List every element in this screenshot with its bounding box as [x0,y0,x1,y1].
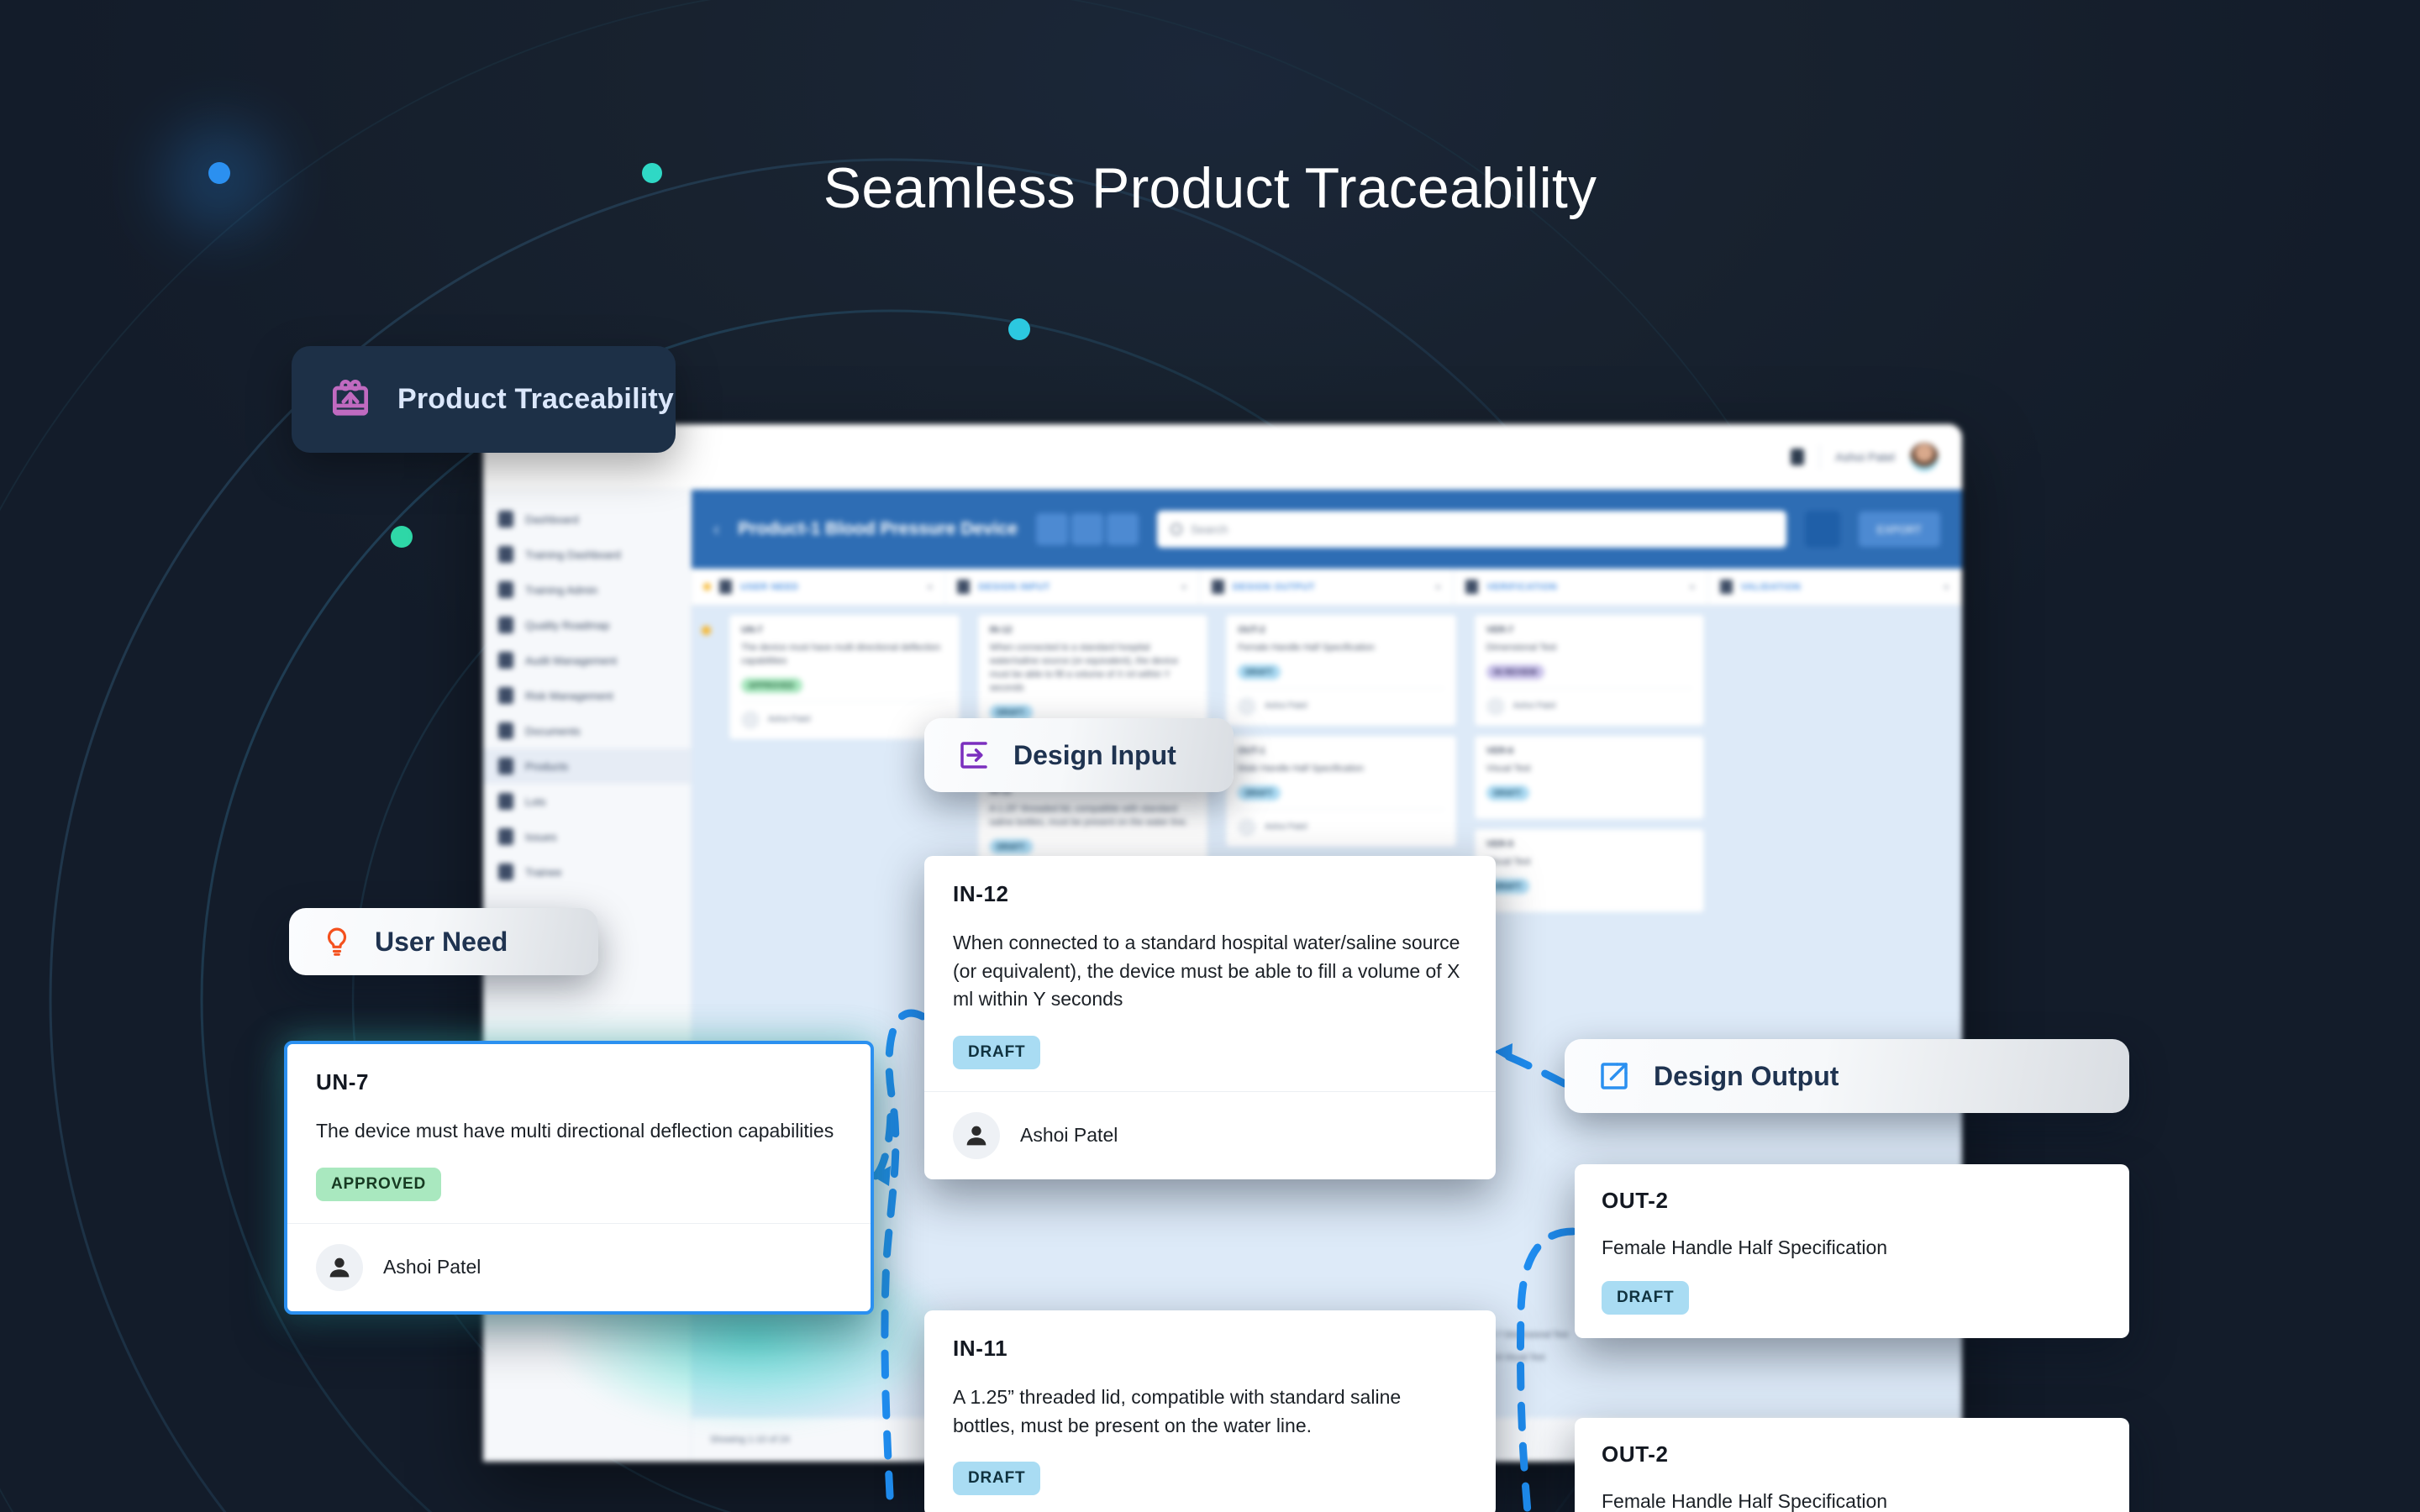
sidebar-item-label: Training Dashboard [525,549,621,561]
status-badge: IN REVIEW [1486,664,1545,680]
matrix-column-validation[interactable]: VALIDATION+ [1708,569,1962,605]
view-tree-icon[interactable] [1107,513,1139,545]
page-title: Seamless Product Traceability [0,155,2420,221]
lightbulb-icon [321,926,353,958]
status-badge: DRAFT [1238,664,1281,680]
column-label: DESIGN INPUT [978,582,1050,592]
card-text: Dimensional Test [1486,642,1693,655]
gift-icon [327,376,374,423]
matrix-column-verification[interactable]: VERIFICATION+ [1454,569,1707,605]
sidebar-item-issues[interactable]: Issues [483,819,691,854]
card-text: A 1.25” threaded lid, compatible with st… [953,1383,1467,1440]
stage-pill-user-need: User Need [289,908,598,975]
status-badge: APPROVED [316,1168,441,1201]
add-icon[interactable]: + [1689,580,1696,593]
filter-button[interactable] [1805,511,1840,548]
sidebar-item-lots[interactable]: Lots [483,784,691,819]
matrix-card[interactable]: UN-7 The device must have multi directio… [729,614,960,740]
sidebar-item-trainee[interactable]: Trainee [483,854,691,890]
app-topbar: Ashoi Patel [483,424,1962,490]
dot-cyan-mid [1008,318,1030,340]
sidebar-item-audit-management[interactable]: Audit Management [483,643,691,678]
card-id: IN-12 [990,625,1197,635]
card-id: UN-7 [741,625,948,635]
matrix-column-design-output[interactable]: DESIGN OUTPUT+ [1200,569,1454,605]
card-text: Male Handle Half Specification [1238,763,1444,776]
card-id: VER-5 [1486,839,1693,849]
card-id: IN-12 [953,881,1467,907]
avatar [953,1112,1000,1159]
card-owner: Ashoi Patel [1265,701,1307,711]
status-dot-icon [703,583,711,591]
product-traceability-badge: Product Traceability [292,346,676,453]
add-icon[interactable]: + [1181,580,1187,593]
sidebar-item-label: Documents [525,725,581,738]
sidebar-item-label: Dashboard [525,513,579,526]
sidebar-item-label: Quality Roadmap [525,619,609,632]
card-id: OUT-2 [1602,1441,2102,1467]
sidebar-item-dashboard[interactable]: Dashboard [483,501,691,537]
stage-pill-design-output: Design Output [1565,1039,2129,1113]
status-badge: DRAFT [1602,1281,1689,1315]
card-id: OUT-2 [1238,625,1444,635]
avatar [1238,818,1256,837]
roadmap-icon [498,617,513,633]
status-badge: DRAFT [1238,785,1281,801]
status-badge: APPROVED [741,678,802,693]
matrix-column-headers: USER NEED+ DESIGN INPUT+ DESIGN OUTPUT+ … [692,569,1962,606]
avatar [1238,697,1256,716]
card-text: Visual Test [1486,856,1693,869]
status-badge: DRAFT [953,1462,1040,1495]
card-id: UN-7 [316,1069,842,1095]
column-label: USER NEED [740,582,799,592]
card-out-2-first[interactable]: OUT-2 Female Handle Half Specification D… [1575,1164,2129,1338]
status-badge: DRAFT [990,839,1033,854]
card-text: When connected to a standard hospital wa… [953,929,1467,1014]
avatar[interactable] [1910,443,1939,471]
user-need-icon [719,580,732,594]
column-label: VERIFICATION [1486,582,1557,592]
card-in-12[interactable]: IN-12 When connected to a standard hospi… [924,856,1496,1179]
list-item[interactable]: VER-6 Visual Test [1464,1347,1697,1369]
lots-icon [498,793,513,810]
view-toggle-group[interactable] [1036,513,1139,545]
matrix-card[interactable]: VER-7 Dimensional Test IN REVIEW Ashoi P… [1474,614,1706,727]
audit-icon [498,652,513,669]
card-owner: Ashoi Patel [1265,822,1307,832]
divider [1819,444,1820,470]
app-user-name: Ashoi Patel [1835,450,1895,464]
login-arrow-icon [956,738,992,773]
sidebar-item-label: Products [525,760,568,773]
add-icon[interactable]: + [1943,580,1949,593]
card-id: OUT-1 [1238,746,1444,756]
column-label: VALIDATION [1741,582,1802,592]
training-icon [498,546,513,563]
column-label: DESIGN OUTPUT [1233,582,1315,592]
product-title: Product-1 Blood Pressure Device [738,519,1018,539]
card-owner: Ashoi Patel [1020,1124,1118,1147]
product-traceability-label: Product Traceability [397,383,674,416]
risk-icon [498,687,513,704]
products-icon [498,758,513,774]
search-input[interactable]: Search [1157,511,1786,548]
avatar [1486,697,1505,716]
matrix-card[interactable]: OUT-2 Female Handle Half Specification D… [1225,614,1457,727]
validation-icon [1720,580,1733,594]
bell-icon[interactable] [1791,449,1804,465]
card-out-2-second[interactable]: OUT-2 Female Handle Half Specification D… [1575,1418,2129,1512]
stage-pill-label: Design Output [1654,1061,1839,1092]
card-id: VER-6 [1486,746,1693,756]
matrix-column-user-need[interactable]: USER NEED+ [692,569,945,605]
card-owner: Ashoi Patel [768,715,811,724]
avatar [316,1244,363,1291]
sidebar-item-training-admin[interactable]: Training Admin [483,572,691,607]
sidebar-item-risk-management[interactable]: Risk Management [483,678,691,713]
card-in-11[interactable]: IN-11 A 1.25” threaded lid, compatible w… [924,1310,1496,1512]
sidebar-item-label: Audit Management [525,654,617,667]
sidebar-item-label: Risk Management [525,690,613,702]
sidebar-item-label: Issues [525,831,557,843]
card-text: Female Handle Half Specification [1238,642,1444,655]
card-owner: Ashoi Patel [383,1256,481,1278]
stage-pill-label: User Need [375,927,508,958]
pagination-label: Showing 1-10 of 24 [710,1435,790,1445]
admin-icon [498,581,513,598]
card-id: IN-11 [953,1336,1467,1362]
card-text: The device must have multi directional d… [316,1117,842,1146]
card-text: Visual Test [1486,763,1693,776]
external-link-icon [1597,1058,1632,1094]
status-badge: DRAFT [1486,785,1529,801]
stage-pill-label: Design Input [1013,740,1176,771]
matrix-card[interactable]: VER-6 Visual Test DRAFT [1474,735,1706,820]
status-badge: DRAFT [953,1036,1040,1069]
card-text: When connected to a standard hospital wa… [990,642,1197,696]
design-output-icon [1212,580,1224,594]
sidebar-item-label: Training Admin [525,584,597,596]
card-text: The device must have multi directional d… [741,642,948,669]
add-icon[interactable]: + [1435,580,1442,593]
export-button[interactable]: EXPORT [1859,512,1940,547]
matrix-card[interactable]: VER-5 Visual Test DRAFT [1474,828,1706,913]
view-grid-icon[interactable] [1036,513,1068,545]
design-input-icon [957,580,970,594]
status-dot-icon [702,626,711,635]
matrix-column-design-input[interactable]: DESIGN INPUT+ [945,569,1199,605]
sidebar-item-documents[interactable]: Documents [483,713,691,748]
view-list-icon[interactable] [1071,513,1103,545]
card-text: A 1.25” threaded lid, compatible with st… [990,803,1197,830]
matrix-card[interactable]: OUT-1 Male Handle Half Specification DRA… [1225,735,1457,848]
sidebar-item-quality-roadmap[interactable]: Quality Roadmap [483,607,691,643]
search-icon [1171,523,1182,535]
issues-icon [498,828,513,845]
card-text: Female Handle Half Specification [1602,1234,2102,1263]
verification-icon [1465,580,1478,594]
card-text: Female Handle Half Specification [1602,1488,2102,1512]
app-sidebar[interactable]: Dashboard Training Dashboard Training Ad… [483,490,692,1462]
card-id: OUT-2 [1602,1188,2102,1214]
card-owner: Ashoi Patel [1513,701,1556,711]
bottom-col-user-need [692,1317,945,1418]
card-id: VER-7 [1486,625,1693,635]
documents-icon [498,722,513,739]
search-placeholder: Search [1191,522,1228,536]
trainee-icon [498,864,513,880]
sidebar-item-products[interactable]: Products [483,748,691,784]
sidebar-item-label: Lots [525,795,546,808]
add-icon[interactable]: + [927,580,934,593]
card-un-7[interactable]: UN-7 The device must have multi directio… [284,1041,874,1315]
sidebar-item-training-dashboard[interactable]: Training Dashboard [483,537,691,572]
hero-stage: Seamless Product Traceability Ashoi Pate… [0,0,2420,1512]
dot-teal-left [391,526,413,548]
back-icon[interactable]: ‹ [713,518,719,540]
sidebar-item-label: Trainee [525,866,562,879]
dashboard-icon [498,511,513,528]
avatar [741,711,760,729]
product-header-bar: ‹ Product-1 Blood Pressure Device Search… [692,490,1962,569]
stage-pill-design-input: Design Input [924,718,1234,792]
